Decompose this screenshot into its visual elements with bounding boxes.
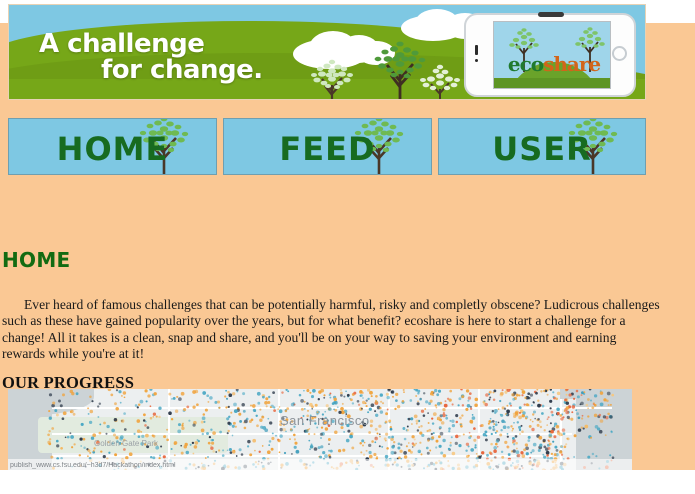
nav-item-home[interactable]: HOME [8, 118, 217, 175]
nav-item-home-label: HOME [9, 130, 216, 168]
page-root: A challenge for change. [0, 0, 695, 494]
nav-item-user[interactable]: USER [438, 118, 646, 175]
ecoshare-logo: ecoshare [502, 52, 606, 76]
progress-map[interactable]: Golden Gate Park San Francisco publish_w… [8, 389, 632, 470]
map-label-park: Golden Gate Park [94, 439, 158, 448]
site-banner: A challenge for change. [8, 4, 646, 100]
status-text: publish_www.cs.fsu.edu/~h3d7/Hackathon/i… [10, 462, 176, 469]
tree-icon [415, 61, 465, 100]
tree-icon [305, 55, 359, 100]
map-status-bar: publish_www.cs.fsu.edu/~h3d7/Hackathon/i… [8, 459, 632, 470]
map-label-city: San Francisco [280, 413, 370, 428]
nav-item-feed[interactable]: FEED [223, 118, 432, 175]
main-navigation: HOME [8, 118, 646, 175]
intro-paragraph: Ever heard of famous challenges that can… [2, 297, 662, 363]
tree-icon [134, 118, 194, 175]
logo-share-text: share [543, 52, 600, 76]
phone-speaker-icon [475, 45, 478, 55]
nav-item-feed-label: FEED [224, 130, 431, 168]
banner-headline-line2: for change. [101, 55, 263, 85]
phone-screen: ecoshare [493, 21, 611, 89]
phone-home-button-icon [612, 46, 627, 61]
logo-eco-text: eco [508, 52, 543, 76]
tree-icon [563, 118, 623, 175]
map-data-points [8, 389, 632, 470]
tree-icon [349, 118, 409, 175]
phone-mockup: ecoshare [464, 13, 636, 97]
phone-screen-ground [494, 78, 610, 88]
nav-item-user-label: USER [439, 130, 645, 168]
phone-camera-icon [538, 12, 564, 17]
phone-sensor-icon [475, 59, 478, 62]
page-title-home: HOME [2, 248, 71, 272]
